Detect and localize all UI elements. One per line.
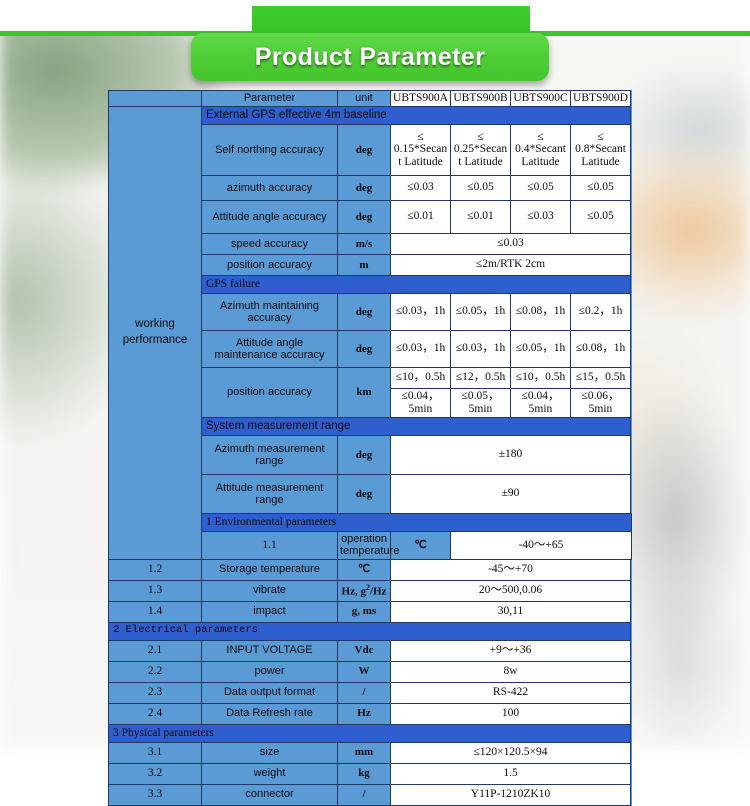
- param-speed-accuracy: speed accuracy: [202, 233, 338, 254]
- header-unit: unit: [338, 91, 391, 107]
- param-power: power: [202, 661, 338, 682]
- value-azimuth-maintaining-d: ≤0.2，1h: [571, 293, 631, 330]
- param-position-accuracy-km: position accuracy: [202, 367, 338, 417]
- value-position-accuracy-km-a: ≤10，0.5h ≤0.04，5min: [391, 367, 451, 417]
- section-environmental: 1 Environmental parameters: [202, 513, 632, 531]
- param-attitude-angle-accuracy: Attitude angle accuracy: [202, 200, 338, 233]
- unit-weight: kg: [338, 763, 391, 784]
- unit-size: mm: [338, 742, 391, 763]
- section-electrical: 2 Electrical parameters: [109, 622, 631, 640]
- value-weight: 1.5: [391, 763, 631, 784]
- unit-self-northing-accuracy: deg: [338, 124, 391, 175]
- header-model-c: UBTS900C: [511, 91, 571, 107]
- unit-connector: /: [338, 784, 391, 805]
- header-corner: [109, 91, 202, 107]
- table-row: 3.2 weight kg 1.5: [109, 763, 632, 784]
- value-azimuth-maintaining-a: ≤0.03，1h: [391, 293, 451, 330]
- value-self-northing-b: ≤0.25*Secant Latitude: [451, 124, 511, 175]
- value-size: ≤120×120.5×94: [391, 742, 631, 763]
- value-azimuth-maintaining-b: ≤0.05，1h: [451, 293, 511, 330]
- row-no-2-1: 2.1: [109, 640, 202, 661]
- unit-operation-temperature: ℃: [391, 531, 451, 559]
- param-self-northing-accuracy: Self northing accuracy: [202, 124, 338, 175]
- top-green-tab: [252, 6, 530, 34]
- value-position-accuracy-km-b: ≤12，0.5h ≤0.05，5min: [451, 367, 511, 417]
- value-data-output-format: RS-422: [391, 682, 631, 703]
- table-header-row: Parameter unit UBTS900A UBTS900B UBTS900…: [109, 91, 632, 107]
- value-azimuth-accuracy-b: ≤0.05: [451, 175, 511, 200]
- table-row: working performance External GPS effecti…: [109, 106, 632, 124]
- param-connector: connector: [202, 784, 338, 805]
- param-operation-temperature: operation temperature: [338, 531, 391, 559]
- param-azimuth-measurement-range: Azimuth measurement range: [202, 435, 338, 474]
- table-row: 2.2 power W 8w: [109, 661, 632, 682]
- unit-azimuth-measurement-range: deg: [338, 435, 391, 474]
- table-row: 2.3 Data output format / RS-422: [109, 682, 632, 703]
- unit-attitude-maintenance-accuracy: deg: [338, 330, 391, 367]
- header-model-b: UBTS900B: [451, 91, 511, 107]
- section-system-measurement-range: System measurement range: [202, 417, 631, 435]
- unit-azimuth-accuracy: deg: [338, 175, 391, 200]
- param-azimuth-maintaining-accuracy: Azimuth maintaining accuracy: [202, 293, 338, 330]
- value-position-accuracy-km-d: ≤15，0.5h ≤0.06，5min: [571, 367, 631, 417]
- value-azimuth-maintaining-c: ≤0.08，1h: [511, 293, 571, 330]
- value-attitude-angle-accuracy-a: ≤0.01: [391, 200, 451, 233]
- section-external-gps: External GPS effective 4m baseline: [202, 106, 631, 124]
- value-attitude-angle-accuracy-b: ≤0.01: [451, 200, 511, 233]
- unit-data-refresh-rate: Hz: [338, 703, 391, 724]
- unit-storage-temperature: ℃: [338, 559, 391, 580]
- unit-data-output-format: /: [338, 682, 391, 703]
- unit-azimuth-maintaining-accuracy: deg: [338, 293, 391, 330]
- unit-vibrate: Hz, g2/Hz: [338, 580, 391, 601]
- value-attitude-measurement-range: ±90: [391, 474, 631, 513]
- table-row: 2.4 Data Refresh rate Hz 100: [109, 703, 632, 724]
- value-attitude-angle-accuracy-d: ≤0.05: [571, 200, 631, 233]
- value-azimuth-accuracy-c: ≤0.05: [511, 175, 571, 200]
- value-attitude-maintenance-d: ≤0.08，1h: [571, 330, 631, 367]
- row-no-2-2: 2.2: [109, 661, 202, 682]
- row-no-3-2: 3.2: [109, 763, 202, 784]
- param-input-voltage: INPUT VOLTAGE: [202, 640, 338, 661]
- value-data-refresh-rate: 100: [391, 703, 631, 724]
- param-position-accuracy-m: position accuracy: [202, 254, 338, 275]
- value-attitude-maintenance-a: ≤0.03，1h: [391, 330, 451, 367]
- unit-impact: g, ms: [338, 601, 391, 622]
- table-row: 1.2 Storage temperature ℃ -45～+70: [109, 559, 632, 580]
- unit-power: W: [338, 661, 391, 682]
- value-storage-temperature: -45～+70: [391, 559, 631, 580]
- side-label-working-performance: working performance: [109, 106, 202, 559]
- value-power: 8w: [391, 661, 631, 682]
- value-input-voltage: +9～+36: [391, 640, 631, 661]
- page-title-banner: Product Parameter: [191, 33, 549, 81]
- param-storage-temperature: Storage temperature: [202, 559, 338, 580]
- param-impact: impact: [202, 601, 338, 622]
- table-row: 3 Physical parameters: [109, 724, 632, 742]
- param-attitude-measurement-range: Attitude measurement range: [202, 474, 338, 513]
- row-no-3-1: 3.1: [109, 742, 202, 763]
- section-physical: 3 Physical parameters: [109, 724, 631, 742]
- unit-attitude-angle-accuracy: deg: [338, 200, 391, 233]
- side-label-text: working performance: [111, 317, 199, 348]
- param-vibrate: vibrate: [202, 580, 338, 601]
- row-no-3-3: 3.3: [109, 784, 202, 805]
- unit-position-accuracy-m: m: [338, 254, 391, 275]
- product-parameter-table-wrap: Parameter unit UBTS900A UBTS900B UBTS900…: [108, 90, 632, 806]
- header-model-d: UBTS900D: [571, 91, 631, 107]
- section-gps-failure: GPS failure: [202, 275, 631, 293]
- table-row: 1.3 vibrate Hz, g2/Hz 20～500,0.06: [109, 580, 632, 601]
- header-parameter: Parameter: [202, 91, 338, 107]
- value-speed-accuracy: ≤0.03: [391, 233, 631, 254]
- product-parameter-table: Parameter unit UBTS900A UBTS900B UBTS900…: [108, 90, 632, 806]
- unit-speed-accuracy: m/s: [338, 233, 391, 254]
- param-size: size: [202, 742, 338, 763]
- table-row: 2.1 INPUT VOLTAGE Vdc +9～+36: [109, 640, 632, 661]
- row-no-1-2: 1.2: [109, 559, 202, 580]
- row-no-1-1: 1.1: [202, 531, 338, 559]
- value-azimuth-accuracy-d: ≤0.05: [571, 175, 631, 200]
- value-self-northing-a: ≤0.15*Secant Latitude: [391, 124, 451, 175]
- param-data-output-format: Data output format: [202, 682, 338, 703]
- table-row: 1.4 impact g, ms 30,11: [109, 601, 632, 622]
- param-data-refresh-rate: Data Refresh rate: [202, 703, 338, 724]
- value-attitude-maintenance-b: ≤0.03，1h: [451, 330, 511, 367]
- header-model-a: UBTS900A: [391, 91, 451, 107]
- unit-position-accuracy-km: km: [338, 367, 391, 417]
- value-azimuth-accuracy-a: ≤0.03: [391, 175, 451, 200]
- table-row: 2 Electrical parameters: [109, 622, 632, 640]
- value-self-northing-c: ≤0.4*SecantLatitude: [511, 124, 571, 175]
- param-weight: weight: [202, 763, 338, 784]
- value-azimuth-measurement-range: ±180: [391, 435, 631, 474]
- page-title: Product Parameter: [255, 43, 486, 72]
- row-no-2-3: 2.3: [109, 682, 202, 703]
- value-attitude-maintenance-c: ≤0.05，1h: [511, 330, 571, 367]
- row-no-1-4: 1.4: [109, 601, 202, 622]
- param-attitude-maintenance-accuracy: Attitude angle maintenance accuracy: [202, 330, 338, 367]
- value-impact: 30,11: [391, 601, 631, 622]
- value-attitude-angle-accuracy-c: ≤0.03: [511, 200, 571, 233]
- row-no-2-4: 2.4: [109, 703, 202, 724]
- value-position-accuracy-m: ≤2m/RTK 2cm: [391, 254, 631, 275]
- value-connector: Y11P-1210ZK10: [391, 784, 631, 805]
- row-no-1-3: 1.3: [109, 580, 202, 601]
- value-position-accuracy-km-c: ≤10，0.5h ≤0.04，5min: [511, 367, 571, 417]
- value-vibrate: 20～500,0.06: [391, 580, 631, 601]
- value-operation-temperature: -40～+65: [451, 531, 632, 559]
- table-row: 3.3 connector / Y11P-1210ZK10: [109, 784, 632, 805]
- table-row: 3.1 size mm ≤120×120.5×94: [109, 742, 632, 763]
- unit-attitude-measurement-range: deg: [338, 474, 391, 513]
- unit-input-voltage: Vdc: [338, 640, 391, 661]
- param-azimuth-accuracy: azimuth accuracy: [202, 175, 338, 200]
- value-self-northing-d: ≤0.8*SecantLatitude: [571, 124, 631, 175]
